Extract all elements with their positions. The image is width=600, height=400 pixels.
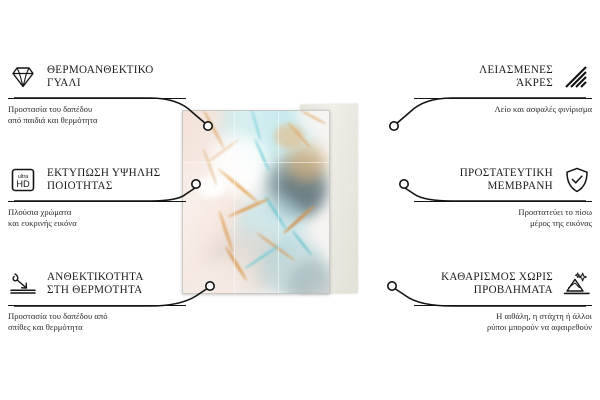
feature-heat-resistance: ΑΝΘΕΚΤΙΚΟΤΗΤΑ ΣΤΗ ΘΕΡΜΟΤΗΤΑ Προστασία το…	[8, 267, 186, 333]
feature-divider	[8, 305, 186, 306]
feature-header: ultra HD ΕΚΤΥΠΩΣΗ ΥΨΗΛΗΣ ΠΟΙΟΤΗΤΑΣ	[8, 163, 186, 197]
feature-divider	[8, 98, 186, 99]
feature-title: ΚΑΘΑΡΙΣΜΟΣ ΧΩΡΙΣ ΠΡΟΒΛΗΜΑΤΑ	[414, 271, 553, 298]
feature-divider	[414, 305, 592, 306]
feature-title: ΑΝΘΕΚΤΙΚΟΤΗΤΑ ΣΤΗ ΘΕΡΜΟΤΗΤΑ	[47, 271, 186, 298]
feature-title: ΕΚΤΥΠΩΣΗ ΥΨΗΛΗΣ ΠΟΙΟΤΗΤΑΣ	[47, 167, 186, 194]
feature-description: Η αιθάλη, η στάχτη ή άλλοι ρύποι μπορούν…	[414, 311, 592, 333]
ultra-hd-icon: ultra HD	[8, 165, 38, 195]
feature-divider	[414, 98, 592, 99]
feature-header: ΘΕΡΜΟΑΝΘΕΚΤΙΚΟ ΓΥΑΛΙ	[8, 60, 186, 94]
feature-high-quality-print: ultra HD ΕΚΤΥΠΩΣΗ ΥΨΗΛΗΣ ΠΟΙΟΤΗΤΑΣ Πλούσ…	[8, 163, 186, 229]
glass-art-panel	[182, 110, 330, 294]
feature-divider	[8, 201, 186, 202]
feature-description: Προστασία του δαπέδου από σπίθες και θερ…	[8, 311, 186, 333]
feature-header: ΛΕΙΑΣΜΕΝΕΣ ΆΚΡΕΣ	[414, 60, 592, 94]
feature-polished-edges: ΛΕΙΑΣΜΕΝΕΣ ΆΚΡΕΣ Λείο και ασφαλές φινίρι…	[414, 60, 592, 115]
feature-title: ΘΕΡΜΟΑΝΘΕΚΤΙΚΟ ΓΥΑΛΙ	[47, 64, 186, 91]
feature-header: ΑΝΘΕΚΤΙΚΟΤΗΤΑ ΣΤΗ ΘΕΡΜΟΤΗΤΑ	[8, 267, 186, 301]
feature-description: Λείο και ασφαλές φινίρισμα	[414, 104, 592, 115]
feature-title: ΛΕΙΑΣΜΕΝΕΣ ΆΚΡΕΣ	[414, 64, 553, 91]
feature-description: Πλούσια χρώματα και ευκρινής εικόνα	[8, 207, 186, 229]
feature-easy-cleaning: ΚΑΘΑΡΙΣΜΟΣ ΧΩΡΙΣ ΠΡΟΒΛΗΜΑΤΑ Η αιθάλη, η …	[414, 267, 592, 333]
flame-deflect-icon	[8, 269, 38, 299]
feature-protective-membrane: ΠΡΟΣΤΑΤΕΥΤΙΚΗ ΜΕΜΒΡΑΝΗ Προστατεύει το πί…	[414, 163, 592, 229]
svg-text:HD: HD	[16, 178, 30, 189]
feature-divider	[414, 201, 592, 202]
feature-header: ΠΡΟΣΤΑΤΕΥΤΙΚΗ ΜΕΜΒΡΑΝΗ	[414, 163, 592, 197]
product-image	[182, 106, 418, 294]
feature-tempered-glass: ΘΕΡΜΟΑΝΘΕΚΤΙΚΟ ΓΥΑΛΙ Προστασία του δαπέδ…	[8, 60, 186, 126]
diamond-icon	[8, 62, 38, 92]
feature-description: Προστασία του δαπέδου από παιδιά και θερ…	[8, 104, 186, 126]
feature-description: Προστατεύει το πίσω μέρος της εικόνας	[414, 207, 592, 229]
diagonal-hatch-icon	[562, 62, 592, 92]
feature-header: ΚΑΘΑΡΙΣΜΟΣ ΧΩΡΙΣ ΠΡΟΒΛΗΜΑΤΑ	[414, 267, 592, 301]
shield-check-icon	[562, 165, 592, 195]
infographic-canvas: ΘΕΡΜΟΑΝΘΕΚΤΙΚΟ ΓΥΑΛΙ Προστασία του δαπέδ…	[0, 0, 600, 400]
feature-title: ΠΡΟΣΤΑΤΕΥΤΙΚΗ ΜΕΜΒΡΑΝΗ	[414, 167, 553, 194]
sparkle-wipe-icon	[562, 269, 592, 299]
